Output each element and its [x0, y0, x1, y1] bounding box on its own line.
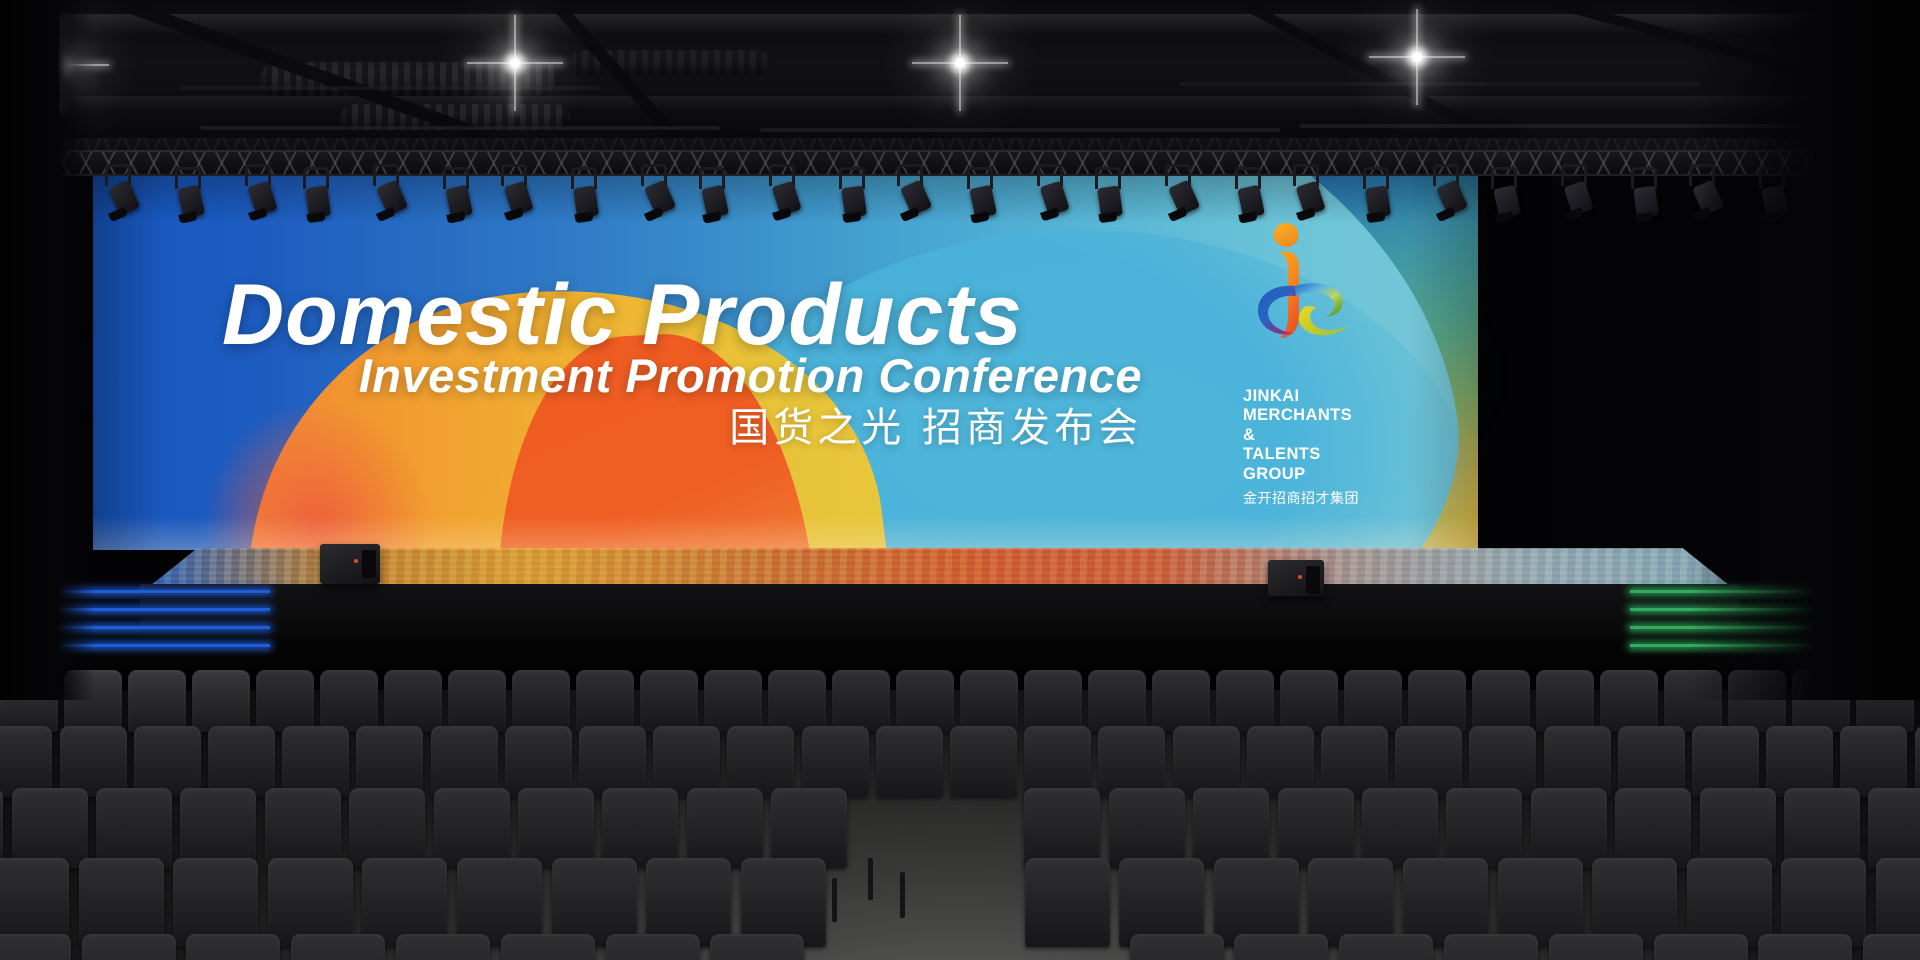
audience-seat	[768, 670, 826, 732]
audience-seat	[832, 670, 890, 732]
speaker-grille	[1306, 566, 1320, 594]
audience-seat	[1840, 726, 1907, 797]
audience-seat	[950, 726, 1017, 797]
audience-seat	[579, 726, 646, 797]
audience-seat	[0, 934, 71, 960]
audience-seat	[1130, 934, 1224, 960]
audience-seat	[710, 934, 804, 960]
audience-seat	[1784, 788, 1860, 868]
audience-seat	[606, 934, 700, 960]
audience-seat	[1531, 788, 1607, 868]
event-title-sub: Investment Promotion Conference	[222, 352, 1142, 399]
audience-seat	[1758, 934, 1852, 960]
chair-leg	[900, 872, 905, 918]
audience-seat	[518, 788, 594, 868]
audience-seat	[1444, 934, 1538, 960]
audience-seat	[1247, 726, 1314, 797]
chair-leg	[832, 878, 837, 922]
audience-seat	[1472, 670, 1530, 732]
audience-seat	[349, 788, 425, 868]
audience-seat	[727, 726, 794, 797]
logo-line-1: JINKAI	[1243, 387, 1393, 406]
audience-seat	[265, 788, 341, 868]
stage-deck-texture	[150, 548, 1730, 586]
audience-seat	[12, 788, 88, 868]
audience-seat	[1615, 788, 1691, 868]
audience-seat	[687, 788, 763, 868]
audience-seat	[1088, 670, 1146, 732]
audience-seat	[876, 726, 943, 797]
audience-seat	[653, 726, 720, 797]
audience-seat	[960, 670, 1018, 732]
audience-seat	[896, 670, 954, 732]
audience-seat	[1321, 726, 1388, 797]
audience-seat	[576, 670, 634, 732]
audience-seat	[1549, 934, 1643, 960]
audience-seat	[1446, 788, 1522, 868]
audience-seat	[1469, 726, 1536, 797]
right-wall-shadow	[1690, 0, 1920, 700]
audience-seat	[431, 726, 498, 797]
audience-seat	[1863, 934, 1920, 960]
audience-seat	[1278, 788, 1354, 868]
audience-seat	[60, 726, 127, 797]
audience-seat	[1915, 726, 1920, 797]
audience-seat	[356, 726, 423, 797]
audience-seat	[1766, 726, 1833, 797]
audience-seat	[501, 934, 595, 960]
chair-leg	[868, 858, 873, 900]
audience-seat	[1362, 788, 1438, 868]
audience-seat	[602, 788, 678, 868]
audience-seat	[1654, 934, 1748, 960]
speaker-grille	[362, 550, 376, 578]
audience-seat	[1109, 788, 1185, 868]
audience-seat	[396, 934, 490, 960]
audience-seat	[1618, 726, 1685, 797]
audience-seat	[186, 934, 280, 960]
audience-seat	[448, 670, 506, 732]
audience-seat	[771, 788, 847, 868]
seating-rows	[0, 640, 1920, 960]
audience-seat	[320, 670, 378, 732]
audience-seat	[96, 788, 172, 868]
stage-fascia	[140, 584, 1740, 642]
speaker-power-led	[1298, 575, 1302, 579]
audience-seat	[1173, 726, 1240, 797]
sponsor-logo-block: JINKAI MERCHANTS & TALENTS GROUP 金开招商招才集…	[1243, 222, 1393, 508]
audience-seat	[1339, 934, 1433, 960]
logo-line-5: GROUP	[1243, 465, 1393, 484]
audience-seat	[1692, 726, 1759, 797]
left-wall-shadow	[0, 0, 95, 700]
audience-seat	[1025, 858, 1110, 947]
audience-seat	[1408, 670, 1466, 732]
audience-seat	[1216, 670, 1274, 732]
audience-seat	[1024, 788, 1100, 868]
audience-seat	[1193, 788, 1269, 868]
audience-seat	[256, 670, 314, 732]
logo-line-4: TALENTS	[1243, 445, 1393, 464]
audience-seat	[1344, 670, 1402, 732]
audience-seat	[1536, 670, 1594, 732]
audience-seat	[1098, 726, 1165, 797]
audience-seat	[0, 788, 3, 868]
audience-seat	[82, 934, 176, 960]
audience-seat	[640, 670, 698, 732]
event-title-main: Domestic Products	[222, 272, 1142, 358]
audience-seat	[1600, 670, 1658, 732]
audience-seat	[1544, 726, 1611, 797]
audience-seat	[505, 726, 572, 797]
audience-seat	[384, 670, 442, 732]
audience-seat	[1024, 726, 1091, 797]
audience-seat	[291, 934, 385, 960]
jinkai-swoosh-mark-icon	[1249, 222, 1367, 372]
stage-monitor-speaker	[1268, 560, 1324, 596]
audience-seat	[282, 726, 349, 797]
audience-seat	[208, 726, 275, 797]
audience-seat	[128, 670, 186, 732]
audience-seat	[0, 726, 52, 797]
logo-wordmark: JINKAI MERCHANTS & TALENTS GROUP	[1243, 387, 1393, 484]
audience-seat	[1280, 670, 1338, 732]
audience-seat	[1700, 788, 1776, 868]
audience-seat	[134, 726, 201, 797]
logo-name-chinese: 金开招商招才集团	[1243, 488, 1393, 508]
audience-seat	[1152, 670, 1210, 732]
audience-seat	[192, 670, 250, 732]
logo-line-3: &	[1243, 426, 1393, 445]
stage-monitor-speaker	[320, 544, 380, 584]
audience-seat	[512, 670, 570, 732]
venue-hall: Domestic Products Investment Promotion C…	[0, 0, 1920, 960]
audience-seat	[1868, 788, 1920, 868]
audience-seat	[802, 726, 869, 797]
audience-seat	[1395, 726, 1462, 797]
audience-seat	[180, 788, 256, 868]
logo-line-2: MERCHANTS	[1243, 406, 1393, 425]
audience-seat	[1024, 670, 1082, 732]
speaker-power-led	[354, 559, 358, 563]
event-title-chinese: 国货之光 招商发布会	[222, 408, 1142, 448]
audience-seat	[1234, 934, 1328, 960]
audience-seat	[434, 788, 510, 868]
audience-seat	[704, 670, 762, 732]
